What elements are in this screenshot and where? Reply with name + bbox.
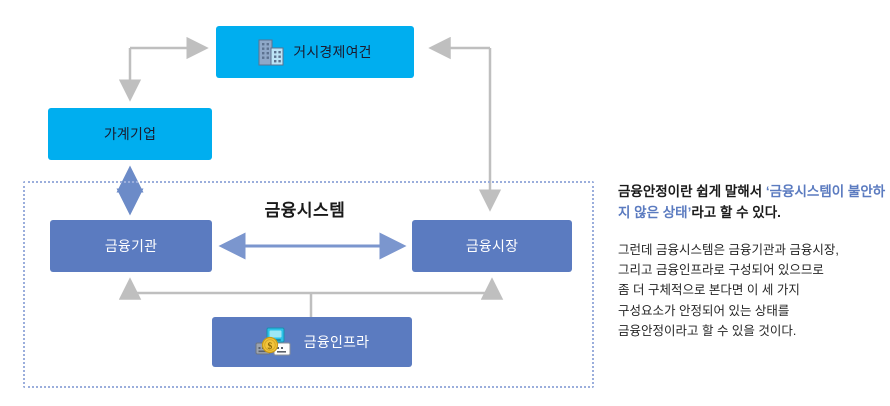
panel-body-line: 금융안정이라고 할 수 있을 것이다. bbox=[618, 321, 886, 341]
panel-body-line: 좀 더 구체적으로 본다면 이 세 가지 bbox=[618, 280, 886, 300]
panel-body-line: 그런데 금융시스템은 금융기관과 금융시장, bbox=[618, 240, 886, 260]
connector-macro-to-household bbox=[130, 48, 205, 98]
panel-heading-line1: 금융안정이란 쉽게 말해서 bbox=[618, 184, 762, 199]
panel-body: 그런데 금융시스템은 금융기관과 금융시장, 그리고 금융인프라로 구성되어 있… bbox=[618, 240, 886, 341]
slide-root: 금융시스템 거시경제여건 bbox=[0, 0, 890, 406]
panel-body-line: 그리고 금융인프라로 구성되어 있으므로 bbox=[618, 260, 886, 280]
explanation-panel: 금융안정이란 쉽게 말해서 ‘금융시스템이 불안하지 않은 상태’라고 할 수 … bbox=[618, 182, 886, 341]
office-buildings-icon bbox=[258, 38, 284, 66]
financial-stability-diagram: 금융시스템 거시경제여건 bbox=[0, 0, 610, 406]
financial-system-title: 금융시스템 bbox=[0, 196, 610, 221]
node-household-business-label: 가계기업 bbox=[104, 124, 156, 144]
panel-heading: 금융안정이란 쉽게 말해서 ‘금융시스템이 불안하지 않은 상태’라고 할 수 … bbox=[618, 182, 886, 224]
node-financial-institution-label: 금융기관 bbox=[105, 236, 157, 256]
node-financial-market[interactable]: 금융시장 bbox=[412, 220, 572, 272]
node-financial-market-label: 금융시장 bbox=[466, 236, 518, 256]
node-household-business[interactable]: 가계기업 bbox=[48, 108, 212, 160]
node-macro-economy-label: 거시경제여건 bbox=[293, 42, 371, 62]
panel-body-line: 구성요소가 안정되어 있는 상태를 bbox=[618, 301, 886, 321]
node-financial-infrastructure-label: 금융인프라 bbox=[304, 332, 369, 352]
payment-money-icon: $ bbox=[255, 326, 295, 358]
panel-heading-after-quote: 라고 bbox=[691, 205, 716, 220]
svg-text:$: $ bbox=[267, 341, 272, 352]
node-financial-infrastructure[interactable]: $ 금융인프라 bbox=[212, 317, 412, 367]
node-macro-economy[interactable]: 거시경제여건 bbox=[216, 26, 414, 78]
node-financial-institution[interactable]: 금융기관 bbox=[50, 220, 212, 272]
panel-heading-line3: 할 수 있다. bbox=[720, 205, 781, 220]
